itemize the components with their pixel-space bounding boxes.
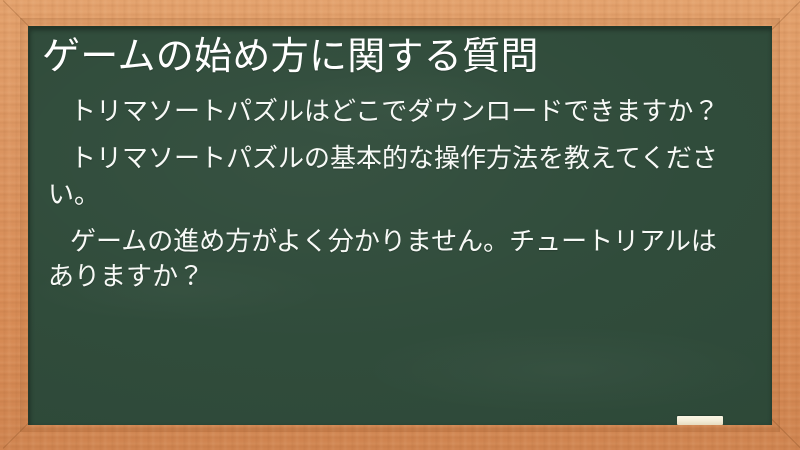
list-item: トリマソートパズルの基本的な操作方法を教えてください。 [48, 142, 742, 213]
board-content: ゲームの始め方に関する質問 トリマソートパズルはどこでダウンロードできますか？ … [30, 28, 772, 425]
list-item: トリマソートパズルはどこでダウンロードできますか？ [48, 95, 742, 130]
page-title: ゲームの始め方に関する質問 [36, 32, 758, 79]
chalkboard-slide: ゲームの始め方に関する質問 トリマソートパズルはどこでダウンロードできますか？ … [0, 0, 800, 450]
question-list: トリマソートパズルはどこでダウンロードできますか？ トリマソートパズルの基本的な… [36, 95, 758, 296]
chalkboard-surface: ゲームの始め方に関する質問 トリマソートパズルはどこでダウンロードできますか？ … [28, 26, 772, 425]
chalk-stick-icon [677, 416, 723, 425]
list-item: ゲームの進め方がよく分かりません。チュートリアルはありますか？ [48, 225, 742, 296]
